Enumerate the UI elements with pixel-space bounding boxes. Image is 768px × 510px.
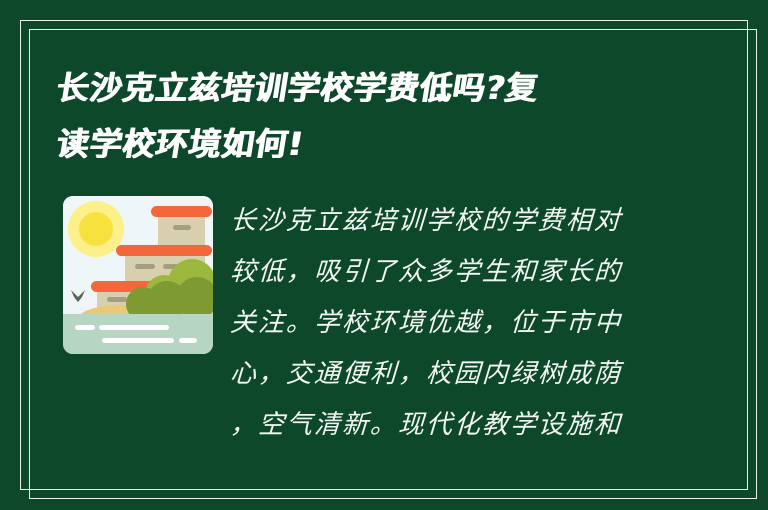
building-upper-roof [151, 206, 212, 217]
body-line-5: ，空气清新。现代化教学设施和 [229, 400, 687, 451]
water-dash-4 [179, 338, 197, 343]
headline-line-1: 长沙克立兹培训学校学费低吗?复 [53, 60, 702, 116]
building-lower-window [107, 297, 127, 302]
water-dash-2 [99, 325, 169, 330]
water-dash-3 [102, 338, 174, 343]
sun-core [79, 212, 113, 246]
poster-card: 长沙克立兹培训学校学费低吗?复 读学校环境如何! [0, 0, 768, 510]
page-title: 长沙克立兹培训学校学费低吗?复 读学校环境如何! [57, 60, 697, 172]
illustration-container [63, 196, 213, 354]
building-upper-window [173, 225, 191, 230]
body-line-3: 关注。学校环境优越，位于市中 [229, 298, 687, 349]
building-upper-wall [158, 215, 205, 246]
water-dash-1 [75, 325, 95, 330]
body-line-2: 较低，吸引了众多学生和家长的 [229, 247, 687, 298]
water-panel [63, 314, 213, 354]
building-middle-roof [116, 245, 212, 256]
body-line-1: 长沙克立兹培训学校的学费相对 [229, 196, 687, 247]
headline-line-2: 读学校环境如何! [53, 116, 702, 172]
body-paragraph: 长沙克立兹培训学校的学费相对 较低，吸引了众多学生和家长的 关注。学校环境优越，… [230, 196, 685, 451]
content-row: 长沙克立兹培训学校的学费相对 较低，吸引了众多学生和家长的 关注。学校环境优越，… [0, 196, 768, 451]
building-middle-window-1 [135, 264, 155, 269]
body-line-4: 心，交通便利，校园内绿树成荫 [229, 349, 687, 400]
campus-scene-illustration [63, 196, 213, 354]
